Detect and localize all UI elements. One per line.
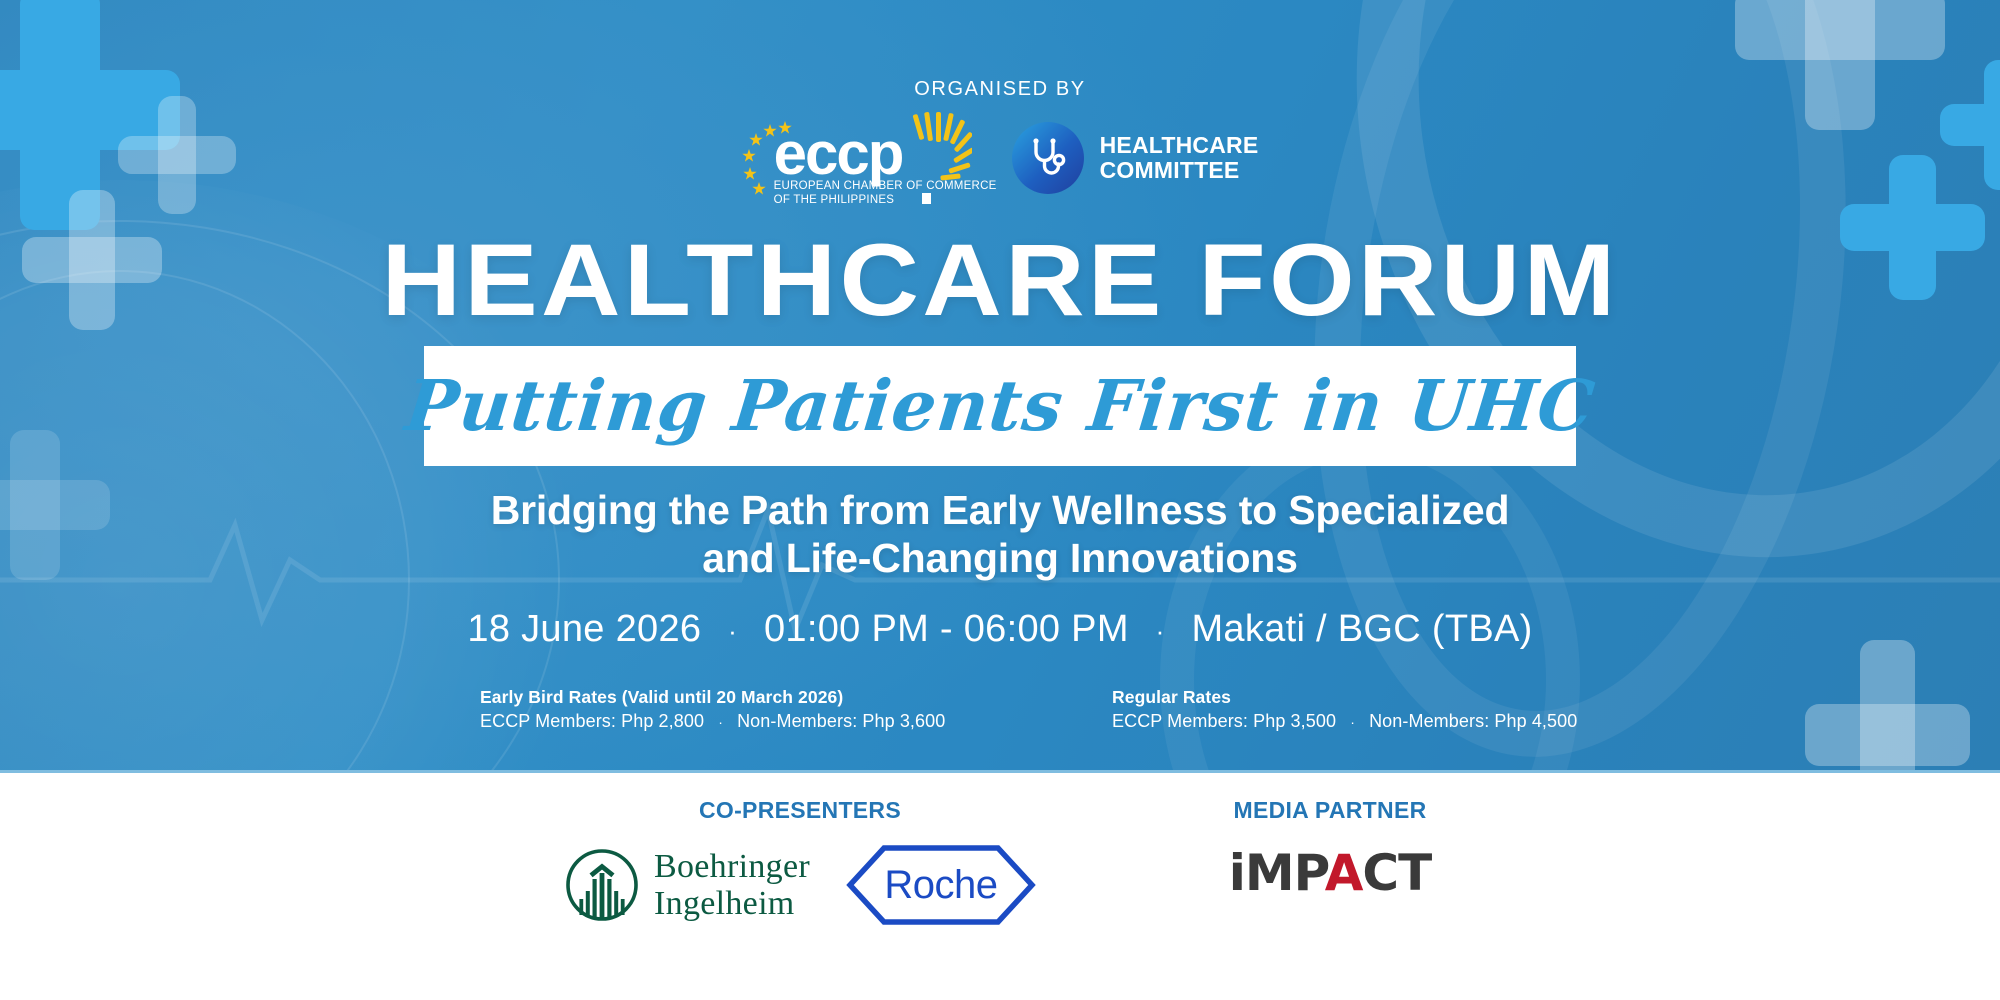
cross-decoration	[1735, 0, 1945, 130]
impact-part2: CT	[1362, 844, 1431, 902]
boehringer-line1: Boehringer	[654, 848, 810, 885]
eccp-tagline-line2: OF THE PHILIPPINES	[774, 194, 895, 207]
rate-separator: ·	[709, 714, 732, 730]
hc-line2: COMMITTEE	[1100, 158, 1259, 183]
event-date: 18 June 2026	[467, 608, 701, 650]
subtitle-line2: and Life-Changing Innovations	[350, 534, 1650, 582]
event-details-line: 18 June 2026 · 01:00 PM - 06:00 PM · Mak…	[0, 607, 2000, 653]
script-tagline-band: Putting Patients First in UHC	[424, 346, 1576, 466]
co-presenters-group: CO-PRESENTERS	[480, 773, 1120, 1000]
partners-section: CO-PRESENTERS	[0, 770, 2000, 1000]
regular-non-members: Non-Members: Php 4,500	[1369, 711, 1577, 731]
eccp-tagline-line1: EUROPEAN CHAMBER OF COMMERCE	[774, 180, 997, 193]
hero-section: ORGANISED BY eccp	[0, 0, 2000, 770]
detail-separator: ·	[712, 616, 753, 646]
roche-logo: Roche	[846, 844, 1036, 926]
boehringer-wordmark: Boehringer Ingelheim	[654, 848, 810, 922]
eccp-logo: eccp EUROPEAN CHAMBER OF COMMERCE	[742, 112, 972, 204]
detail-separator: ·	[1140, 616, 1181, 646]
event-time: 01:00 PM - 06:00 PM	[764, 608, 1129, 650]
rates-block: Early Bird Rates (Valid until 20 March 2…	[480, 685, 1540, 735]
impact-logo: iMPACT	[1229, 844, 1431, 902]
co-presenters-label: CO-PRESENTERS	[699, 797, 901, 824]
eccp-wordmark: eccp	[774, 124, 903, 184]
regular-values: ECCP Members: Php 3,500 · Non-Members: P…	[1112, 709, 1577, 735]
partner-groups: CO-PRESENTERS	[480, 773, 1540, 1000]
eccp-square-mark	[922, 193, 931, 204]
early-bird-values: ECCP Members: Php 2,800 · Non-Members: P…	[480, 709, 1040, 735]
boehringer-ingelheim-logo: Boehringer Ingelheim	[564, 847, 810, 923]
subtitle-line1: Bridging the Path from Early Wellness to…	[350, 486, 1650, 534]
regular-members: ECCP Members: Php 3,500	[1112, 711, 1336, 731]
organiser-logo-row: eccp EUROPEAN CHAMBER OF COMMERCE	[0, 112, 2000, 204]
cross-decoration	[0, 430, 110, 580]
early-bird-non-members: Non-Members: Php 3,600	[737, 711, 945, 731]
regular-heading: Regular Rates	[1112, 685, 1577, 709]
impact-part1: iMP	[1229, 844, 1325, 902]
media-partner-group: MEDIA PARTNER iMPACT	[1120, 773, 1540, 1000]
healthcare-committee-text: HEALTHCARE COMMITTEE	[1100, 133, 1259, 183]
regular-rates: Regular Rates ECCP Members: Php 3,500 · …	[1112, 685, 1577, 735]
hc-line1: HEALTHCARE	[1100, 133, 1259, 158]
early-bird-members: ECCP Members: Php 2,800	[480, 711, 704, 731]
early-bird-rates: Early Bird Rates (Valid until 20 March 2…	[480, 685, 1040, 735]
roche-wordmark: Roche	[846, 844, 1036, 926]
rate-separator: ·	[1341, 714, 1364, 730]
media-partner-logos: iMPACT	[1229, 844, 1431, 902]
healthcare-committee-logo: HEALTHCARE COMMITTEE	[1012, 122, 1259, 194]
healthcare-forum-banner: ORGANISED BY eccp	[0, 0, 2000, 1000]
subtitle: Bridging the Path from Early Wellness to…	[350, 486, 1650, 582]
cross-decoration	[1805, 640, 1970, 770]
event-venue: Makati / BGC (TBA)	[1191, 608, 1532, 650]
boehringer-akanthus-icon	[564, 847, 640, 923]
page-title: HEALTHCARE FORUM	[0, 228, 2000, 332]
philippine-sun-rays-icon	[910, 112, 972, 188]
healthcare-committee-badge	[1012, 122, 1084, 194]
impact-accent-letter: A	[1325, 844, 1363, 902]
organised-by-label: ORGANISED BY	[0, 78, 2000, 101]
script-tagline: Putting Patients First in UHC	[402, 370, 1598, 442]
early-bird-heading: Early Bird Rates (Valid until 20 March 2…	[480, 685, 1040, 709]
media-partner-label: MEDIA PARTNER	[1233, 797, 1426, 824]
boehringer-line2: Ingelheim	[654, 885, 810, 922]
stethoscope-icon	[1025, 135, 1071, 181]
co-presenter-logos: Boehringer Ingelheim Roche	[564, 844, 1036, 926]
